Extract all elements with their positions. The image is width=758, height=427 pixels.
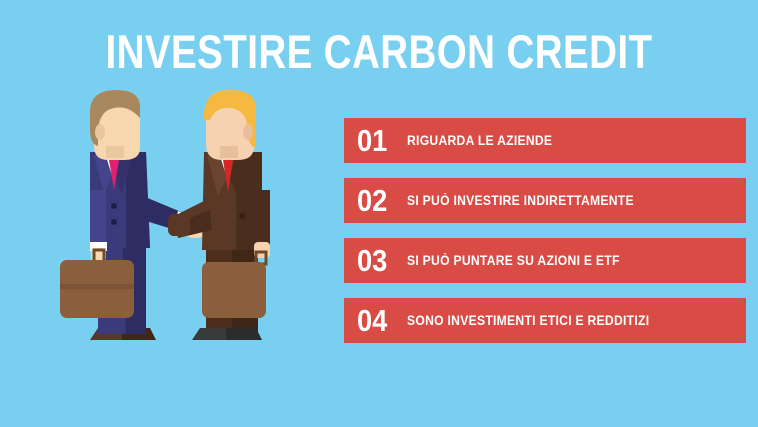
right-businessman	[168, 90, 270, 340]
right-briefcase	[202, 262, 266, 318]
numbered-list: 01 RIGUARDA LE AZIENDE 02 SI PUÒ INVESTI…	[344, 118, 746, 343]
handshake-illustration-svg	[60, 90, 300, 358]
list-item-label: RIGUARDA LE AZIENDE	[407, 133, 552, 148]
list-item[interactable]: 04 SONO INVESTIMENTI ETICI E REDDITIZI	[344, 298, 746, 343]
list-item[interactable]: 01 RIGUARDA LE AZIENDE	[344, 118, 746, 163]
list-item-label: SONO INVESTIMENTI ETICI E REDDITIZI	[407, 313, 649, 328]
handshake-illustration	[60, 90, 300, 358]
list-item-number: 01	[357, 125, 394, 156]
list-item[interactable]: 02 SI PUÒ INVESTIRE INDIRETTAMENTE	[344, 178, 746, 223]
page-title: INVESTIRE CARBON CREDIT	[68, 26, 690, 78]
list-item-label: SI PUÒ INVESTIRE INDIRETTAMENTE	[407, 193, 634, 208]
list-item[interactable]: 03 SI PUÒ PUNTARE SU AZIONI E ETF	[344, 238, 746, 283]
right-shoe-back	[226, 328, 262, 340]
list-item-label: SI PUÒ PUNTARE SU AZIONI E ETF	[407, 253, 620, 268]
list-item-number: 04	[357, 305, 394, 336]
list-item-number: 03	[357, 245, 394, 276]
list-item-number: 02	[357, 185, 394, 216]
